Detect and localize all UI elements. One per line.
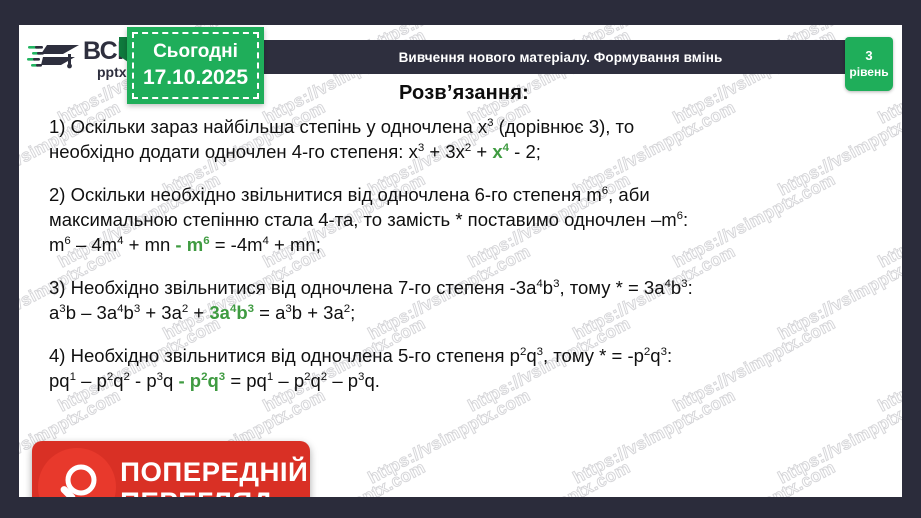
- text-run: – 4m: [71, 234, 117, 255]
- text-run: q: [163, 370, 178, 391]
- solution-item-4: 4) Необхідно звільнитися від одночлена 5…: [49, 344, 879, 394]
- highlighted-term: - m6: [175, 234, 209, 255]
- text-run: , тому * = 3a: [559, 277, 664, 298]
- watermark-text: https://vsimpptx.com: [875, 458, 902, 497]
- text-run: x: [492, 141, 502, 162]
- text-run: -: [178, 370, 189, 391]
- text-run: + mn;: [269, 234, 321, 255]
- text-run: ;: [350, 302, 355, 323]
- text-run: - p: [130, 370, 157, 391]
- preview-stamp-text: ПОПЕРЕДНІЙ ПЕРЕГЛЯД: [122, 459, 306, 498]
- ribbon-date-value: 17.10.2025: [143, 66, 248, 90]
- magnifier-icon: [38, 448, 116, 497]
- text-run: q.: [364, 370, 379, 391]
- text-run: = -4m: [210, 234, 263, 255]
- text-run: + 3x: [424, 141, 465, 162]
- text-run: = a: [254, 302, 285, 323]
- text-run: 3) Необхідно звільнитися від одночлена 7…: [49, 277, 536, 298]
- text-run: , тому * = -p: [543, 345, 644, 366]
- text-run: q: [311, 370, 321, 391]
- text-run: 2) Оскільки необхідно звільнитися від од…: [49, 184, 602, 205]
- text-run: m: [187, 234, 203, 255]
- text-run: +: [188, 302, 209, 323]
- solution-item-1: 1) Оскільки зараз найбільша степінь у од…: [49, 115, 879, 165]
- text-run: b: [236, 302, 247, 323]
- text-run: :: [683, 209, 688, 230]
- text-run: + mn: [123, 234, 175, 255]
- text-run: q: [526, 345, 536, 366]
- text-run: максимальною степінню стала 4-та, то зам…: [49, 209, 677, 230]
- text-run: – p: [273, 370, 304, 391]
- text-run: – p: [76, 370, 107, 391]
- preview-stamp-line1: ПОПЕРЕДНІЙ: [120, 459, 308, 486]
- text-run: 3a: [209, 302, 230, 323]
- text-run: q: [113, 370, 123, 391]
- text-run: (дорівнює 3), то: [494, 116, 635, 137]
- level-badge: 3 рівень: [845, 37, 893, 91]
- date-ribbon: Сьогодні 17.10.2025: [127, 27, 264, 104]
- highlighted-term: - p2q3: [178, 370, 225, 391]
- text-run: :: [688, 277, 693, 298]
- header-bar: Вивчення нового матеріалу. Формування вм…: [258, 40, 863, 74]
- text-run: m: [49, 234, 64, 255]
- preview-stamp-line2: ПЕРЕГЛЯД: [120, 489, 308, 498]
- text-run: q: [650, 345, 660, 366]
- level-word: рівень: [849, 66, 888, 79]
- level-number: 3: [865, 49, 872, 63]
- ribbon-today-label: Сьогодні: [153, 41, 238, 63]
- watermark-text: https://vsimpptx.com: [570, 386, 739, 489]
- watermark-text: https://vsimpptx.com: [775, 386, 902, 489]
- text-run: b: [671, 277, 681, 298]
- highlighted-term: x4: [492, 141, 509, 162]
- text-run: :: [667, 345, 672, 366]
- text-run: pq: [49, 370, 70, 391]
- text-run: b: [543, 277, 553, 298]
- watermark-text: https://vsimpptx.com: [670, 458, 839, 497]
- text-run: + 3a: [140, 302, 182, 323]
- text-run: b: [124, 302, 134, 323]
- text-run: p: [190, 370, 201, 391]
- text-run: , аби: [608, 184, 650, 205]
- slide-card: https://vsimpptx.comhttps://vsimpptx.com…: [19, 25, 902, 497]
- text-run: = pq: [225, 370, 267, 391]
- text-run: q: [207, 370, 218, 391]
- header-title: Вивчення нового матеріалу. Формування вм…: [399, 50, 723, 65]
- text-run: a: [49, 302, 59, 323]
- text-run: - 2;: [509, 141, 541, 162]
- graduation-cap-icon: [27, 37, 81, 81]
- text-run: b – 3a: [66, 302, 117, 323]
- text-run: b + 3a: [292, 302, 344, 323]
- watermark-text: https://vsimpptx.com: [465, 458, 634, 497]
- text-run: необхідно додати одночлен 4-го степеня: …: [49, 141, 418, 162]
- solution-content: Розв’язання: 1) Оскільки зараз найбільша…: [49, 82, 879, 394]
- slide-stage: https://vsimpptx.comhttps://vsimpptx.com…: [0, 0, 921, 518]
- ribbon-body: Сьогодні 17.10.2025: [127, 27, 264, 104]
- text-run: – p: [327, 370, 358, 391]
- text-run: +: [471, 141, 492, 162]
- solution-item-2: 2) Оскільки необхідно звільнитися від од…: [49, 183, 879, 258]
- text-run: 1) Оскільки зараз найбільша степінь у од…: [49, 116, 487, 137]
- highlighted-term: 3a4b3: [209, 302, 254, 323]
- text-run: 4) Необхідно звільнитися від одночлена 5…: [49, 345, 520, 366]
- brand-suffix: pptx: [97, 65, 127, 79]
- text-run: -: [175, 234, 186, 255]
- preview-watermark-badge: ПОПЕРЕДНІЙ ПЕРЕГЛЯД: [32, 441, 310, 497]
- solution-item-3: 3) Необхідно звільнитися від одночлена 7…: [49, 276, 879, 326]
- watermark-text: https://vsimpptx.com: [365, 386, 534, 489]
